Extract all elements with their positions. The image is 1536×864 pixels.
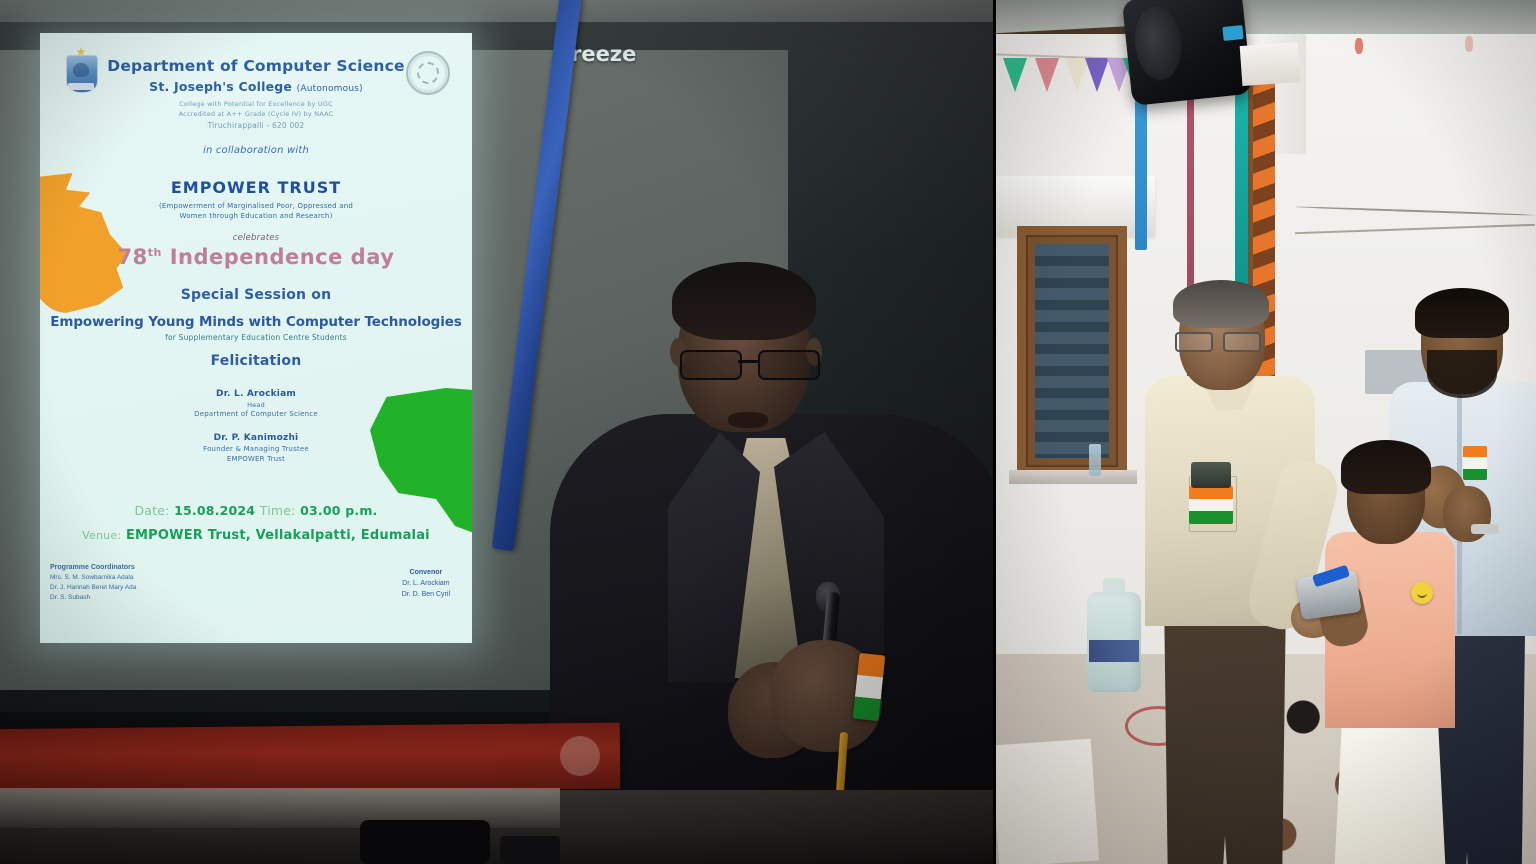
- slide-collaboration: in collaboration with: [40, 145, 472, 156]
- presenter-hair: [1173, 280, 1269, 328]
- boy-dhoti: [1333, 718, 1447, 864]
- left-photo-speaker-scene: Freeze Department of Computer Science St…: [0, 0, 995, 864]
- slide-session-label: Special Session on: [40, 287, 472, 303]
- bunting-flag: [1035, 58, 1059, 92]
- slide-department: Department of Computer Science: [40, 57, 472, 75]
- coordinator-3: Dr. S. Subash: [50, 593, 136, 603]
- panel-divider: [993, 0, 996, 864]
- water-bottle-label: [1089, 640, 1139, 662]
- felicitation-role-1: Head: [40, 401, 472, 409]
- speaker-person: [560, 262, 995, 864]
- coordinator-2: Dr. J. Hannah Beret Mary Ada: [50, 583, 136, 593]
- stage-light-mount: [1240, 42, 1301, 86]
- slide-occasion-ordinal: th: [148, 246, 162, 259]
- time-label: Time:: [260, 503, 296, 518]
- convenor-1: Dr. L. Arockiam: [402, 578, 450, 589]
- venue-value: EMPOWER Trust, Vellakalpatti, Edumalai: [126, 528, 430, 543]
- wristwatch-icon: [1471, 524, 1499, 534]
- wooden-window: [1017, 226, 1127, 476]
- felicitation-org-2: EMPOWER Trust: [40, 455, 472, 463]
- slide-coordinators: Programme Coordinators Mrs. S. M. Sowbar…: [50, 563, 136, 603]
- foreground-object: [360, 820, 490, 864]
- slide-date-time: Date: 15.08.2024 Time: 03.00 p.m.: [40, 503, 472, 518]
- white-floor-mat: [995, 739, 1099, 864]
- projected-slide: Department of Computer Science St. Josep…: [40, 33, 472, 643]
- bunting-flag: [1085, 58, 1109, 92]
- date-value: 15.08.2024: [174, 503, 255, 518]
- date-label: Date:: [134, 503, 169, 518]
- felicitation-name-1: Dr. L. Arockiam: [40, 389, 472, 399]
- coordinator-1: Mrs. S. M. Sowbarnika Adala: [50, 573, 136, 583]
- convenor-2: Dr. D. Ben Cyril: [402, 589, 450, 600]
- slide-college: St. Joseph's College (Autonomous): [40, 79, 472, 94]
- young-man-beard: [1427, 350, 1497, 398]
- eyeglasses-icon: [678, 350, 820, 376]
- right-photo-gift-scene: [995, 0, 1536, 864]
- slide-felicitation-label: Felicitation: [40, 353, 472, 369]
- felicitation-name-2: Dr. P. Kanimozhi: [40, 433, 472, 443]
- slide-venue: Venue: EMPOWER Trust, Vellakalpatti, Edu…: [40, 528, 472, 543]
- young-man-hair: [1415, 288, 1509, 338]
- slide-partner: EMPOWER TRUST: [40, 178, 472, 197]
- felicitation-org-1: Department of Computer Science: [40, 410, 472, 418]
- coordinators-heading: Programme Coordinators: [50, 563, 136, 573]
- boy-recipient: [1325, 440, 1455, 864]
- slide-accreditation-1: College with Potential for Excellence by…: [40, 99, 472, 109]
- red-event-banner: [0, 723, 620, 796]
- wall-decoration: [1465, 36, 1473, 52]
- slide-occasion-text: Independence day: [170, 245, 395, 269]
- convenor-heading: Convenor: [402, 567, 450, 578]
- elderly-presenter: [1145, 280, 1315, 864]
- phone-in-pocket: [1191, 462, 1231, 488]
- slide-partner-sub: (Empowerment of Marginalised Poor, Oppre…: [40, 201, 472, 221]
- time-value: 03.00 p.m.: [300, 503, 377, 518]
- foreground-object-small: [500, 836, 560, 864]
- slide-session-audience: for Supplementary Education Centre Stude…: [40, 333, 472, 342]
- slide-city: Tiruchirappalli - 620 002: [40, 121, 472, 131]
- wall-decoration: [1355, 38, 1363, 54]
- window-louvers: [1035, 244, 1109, 458]
- slide-occasion: 78th Independence day: [40, 245, 472, 269]
- slide-session-title: Empowering Young Minds with Computer Tec…: [40, 314, 472, 330]
- small-water-bottle: [1089, 444, 1101, 476]
- slide-occasion-number: 78: [118, 245, 148, 269]
- slide-accreditation-2: Accredited at A++ Grade (Cycle IV) by NA…: [40, 109, 472, 119]
- venue-label: Venue:: [82, 529, 121, 542]
- photo-collage: Freeze Department of Computer Science St…: [0, 0, 1536, 864]
- speaker-hair: [672, 262, 816, 340]
- speaker-mouth: [728, 412, 768, 428]
- banner-logo-icon: [560, 736, 600, 776]
- smiley-badge-icon: [1411, 582, 1433, 604]
- slide-college-suffix: (Autonomous): [297, 84, 363, 94]
- slide-convenors: Convenor Dr. L. Arockiam Dr. D. Ben Cyri…: [402, 567, 450, 600]
- window-sill: [1009, 470, 1137, 484]
- slide-college-name: St. Joseph's College: [149, 79, 292, 94]
- slide-partner-sub-1: (Empowerment of Marginalised Poor, Oppre…: [159, 202, 353, 210]
- presenter-trousers: [1159, 616, 1291, 864]
- slide-celebrates: celebrates: [40, 233, 472, 243]
- eyeglasses-icon: [1175, 332, 1261, 348]
- stage-light-badge: [1222, 25, 1243, 41]
- indian-flag-icon: [1189, 486, 1233, 524]
- slide-partner-sub-2: Women through Education and Research): [179, 212, 332, 220]
- felicitation-role-2: Founder & Managing Trustee: [40, 445, 472, 453]
- bunting-flag: [1003, 58, 1027, 92]
- indian-flag-icon: [1463, 446, 1487, 480]
- boy-hair: [1341, 440, 1431, 494]
